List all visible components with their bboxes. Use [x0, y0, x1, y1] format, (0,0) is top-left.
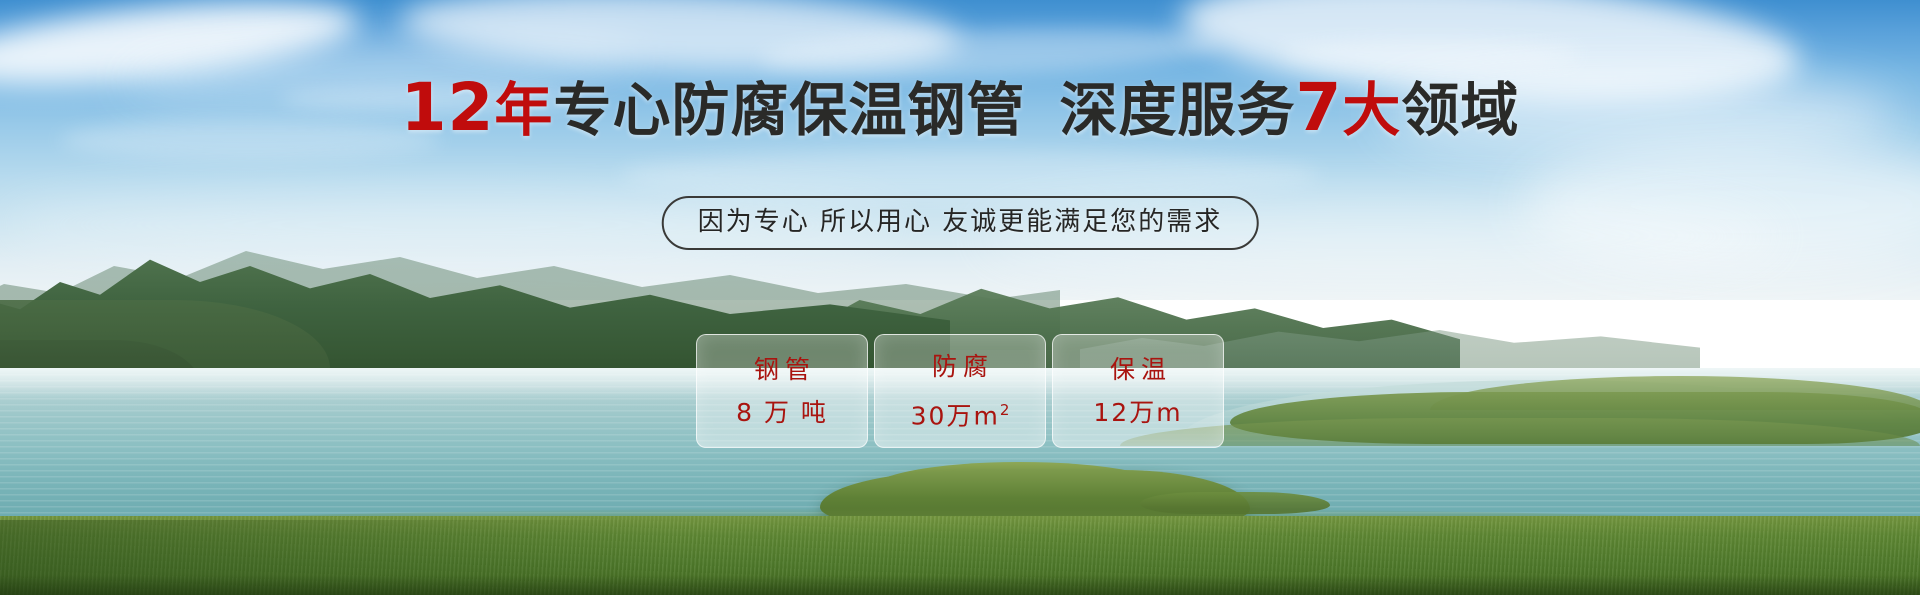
- stat-card-anticorrosion: 防腐 30万m2: [874, 334, 1046, 448]
- stat-value-main: 12万m: [1093, 398, 1182, 427]
- stat-value-main: 30万m: [911, 401, 1000, 430]
- stat-card-insulation: 保温 12万m: [1052, 334, 1224, 448]
- stat-card-steel-pipe: 钢管 8 万 吨: [696, 334, 868, 448]
- stat-value-superscript: 2: [1000, 401, 1010, 419]
- stat-value-main: 8 万 吨: [736, 398, 828, 427]
- hero-banner: 12年专心防腐保温钢管深度服务7大领域 因为专心 所以用心 友诚更能满足您的需求…: [0, 0, 1920, 595]
- text-overlay: 12年专心防腐保温钢管深度服务7大领域 因为专心 所以用心 友诚更能满足您的需求…: [0, 0, 1920, 595]
- headline-segment-main: 专心防腐保温钢管: [553, 76, 1025, 144]
- headline-fields-unit: 大: [1342, 76, 1401, 144]
- stat-value: 30万m2: [911, 396, 1010, 430]
- headline-fields-number: 7: [1295, 69, 1342, 146]
- stat-card-group: 钢管 8 万 吨 防腐 30万m2 保温 12万m: [696, 334, 1224, 448]
- headline-segment-service: 深度服务: [1059, 76, 1295, 144]
- headline-segment-fields: 领域: [1401, 76, 1519, 144]
- headline-years-number: 12: [401, 69, 495, 146]
- stat-value: 8 万 吨: [736, 399, 828, 427]
- stat-label: 保温: [1104, 355, 1172, 385]
- stat-value: 12万m: [1093, 399, 1182, 427]
- banner-headline: 12年专心防腐保温钢管深度服务7大领域: [0, 76, 1920, 142]
- stat-label: 钢管: [748, 355, 816, 385]
- headline-years-unit: 年: [494, 76, 553, 144]
- stat-label: 防腐: [926, 352, 994, 382]
- banner-subtitle-pill: 因为专心 所以用心 友诚更能满足您的需求: [662, 196, 1259, 250]
